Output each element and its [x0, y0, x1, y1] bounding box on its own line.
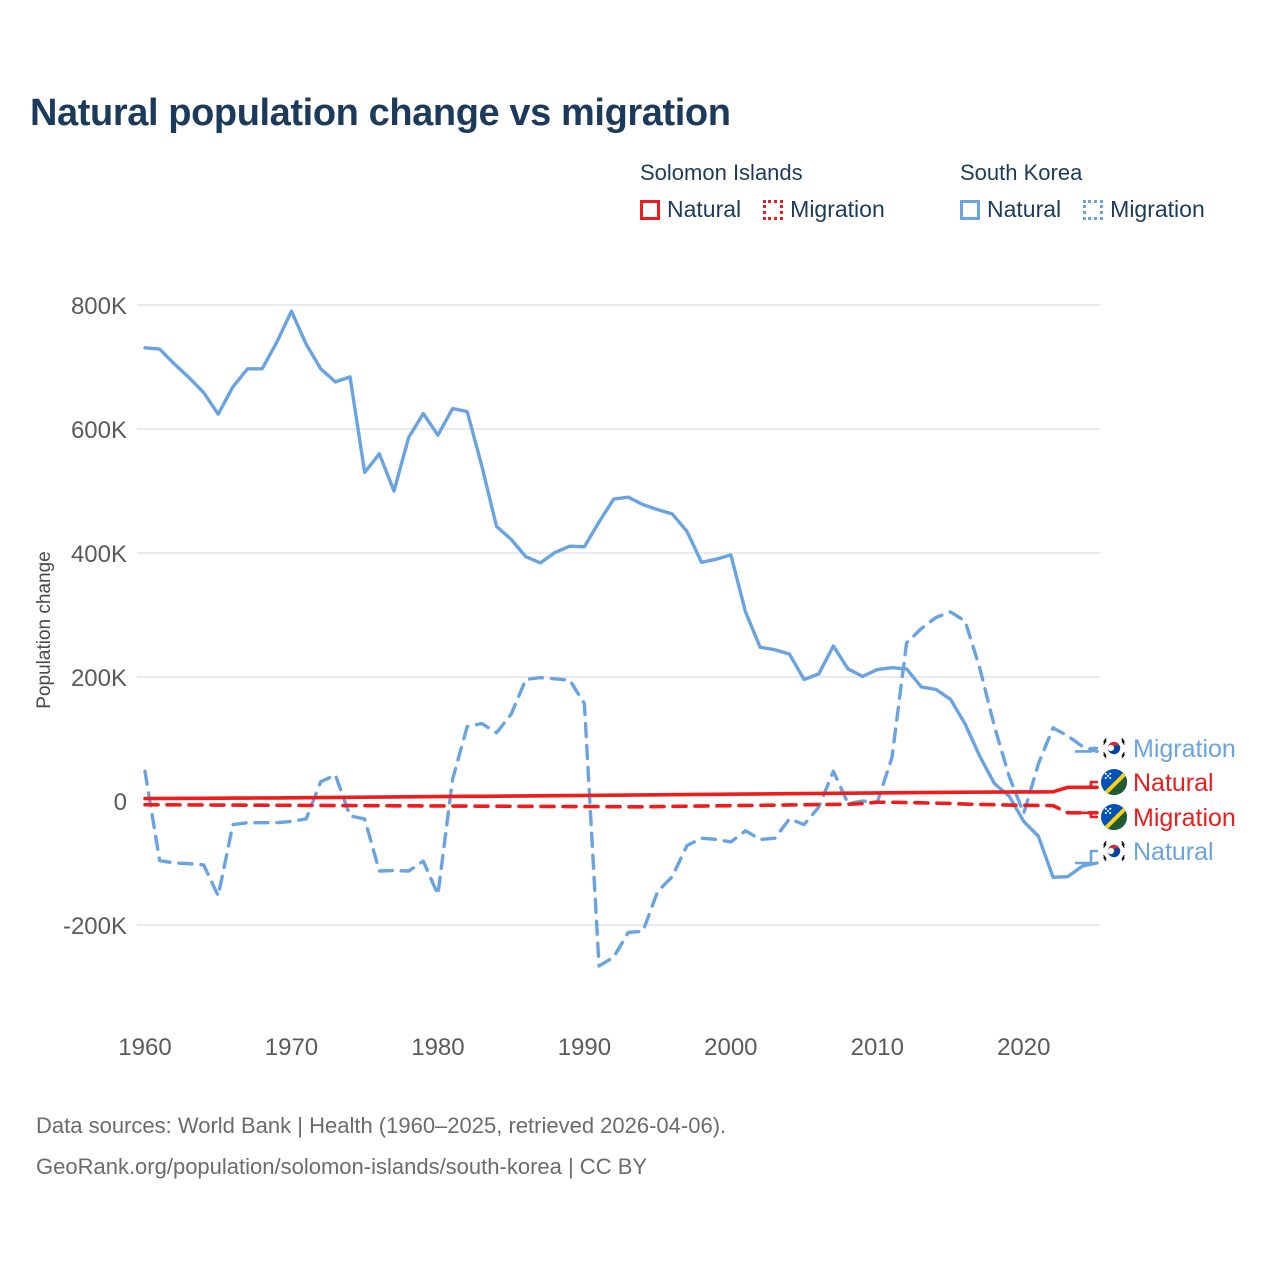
x-axis-tick-label: 2000: [704, 1034, 757, 1061]
end-label-text: Natural: [1133, 838, 1214, 866]
series-line: [145, 311, 1097, 877]
y-axis-tick-label: 0: [114, 789, 127, 816]
legend-item-label: Natural: [987, 196, 1061, 223]
series-line: [145, 612, 1097, 966]
y-axis-tick-label: 600K: [71, 417, 127, 444]
end-label-leader-line: [1075, 782, 1098, 787]
x-axis-tick-labels: 1960197019801990200020102020: [118, 1034, 1050, 1061]
south-korea-flag-icon: [1101, 838, 1127, 864]
chart-legend: Solomon Islands Natural Migration South …: [640, 160, 1260, 250]
chart-footer: Data sources: World Bank | Health (1960–…: [36, 1105, 726, 1187]
footer-data-sources: Data sources: World Bank | Health (1960–…: [36, 1105, 726, 1146]
y-axis-tick-label: 800K: [71, 293, 127, 320]
legend-swatch-solid-icon: [640, 200, 660, 220]
y-axis-title: Population change: [34, 551, 55, 708]
chart-page: Natural population change vs migration S…: [0, 0, 1280, 1280]
x-axis-tick-label: 2020: [997, 1034, 1050, 1061]
legend-swatch-solid-icon: [960, 200, 980, 220]
x-axis-tick-label: 1990: [558, 1034, 611, 1061]
series-line: [145, 802, 1097, 813]
footer-attribution: GeoRank.org/population/solomon-islands/s…: [36, 1146, 726, 1187]
legend-item-solomon-natural[interactable]: Natural: [640, 196, 741, 223]
legend-group-solomon-islands: Solomon Islands Natural Migration: [640, 160, 885, 223]
end-label-text: Natural: [1133, 769, 1214, 797]
y-axis-tick-labels: -200K0200K400K600K800K: [63, 293, 127, 940]
legend-item-label: Natural: [667, 196, 741, 223]
y-axis-tick-label: 200K: [71, 665, 127, 692]
chart-series: [145, 311, 1097, 966]
y-axis-tick-label: -200K: [63, 913, 127, 940]
legend-item-label: Migration: [790, 196, 885, 223]
y-axis-tick-label: 400K: [71, 541, 127, 568]
x-axis-tick-label: 1960: [118, 1034, 171, 1061]
legend-item-korea-natural[interactable]: Natural: [960, 196, 1061, 223]
end-label-leader-line: [1075, 748, 1098, 751]
legend-group-title: Solomon Islands: [640, 160, 885, 186]
legend-item-solomon-migration[interactable]: Migration: [763, 196, 885, 223]
legend-group-south-korea: South Korea Natural Migration: [960, 160, 1205, 223]
series-line: [145, 787, 1097, 798]
chart-gridlines: [137, 305, 1100, 925]
x-axis-tick-label: 1980: [411, 1034, 464, 1061]
solomon-islands-flag-icon: [1101, 804, 1127, 830]
legend-item-label: Migration: [1110, 196, 1205, 223]
x-axis-tick-label: 2010: [851, 1034, 904, 1061]
end-label-text: Migration: [1133, 735, 1236, 763]
end-label-leader-line: [1075, 813, 1098, 817]
legend-swatch-dotted-icon: [1083, 200, 1103, 220]
south-korea-flag-icon: [1101, 735, 1127, 761]
series-end-labels: MigrationNaturalMigrationNatural: [1075, 735, 1236, 866]
end-label-leader-line: [1075, 851, 1098, 863]
x-axis-tick-label: 1970: [265, 1034, 318, 1061]
legend-item-korea-migration[interactable]: Migration: [1083, 196, 1205, 223]
solomon-islands-flag-icon: [1101, 769, 1127, 795]
end-label-text: Migration: [1133, 804, 1236, 832]
legend-group-title: South Korea: [960, 160, 1205, 186]
page-title: Natural population change vs migration: [30, 92, 731, 135]
legend-swatch-dotted-icon: [763, 200, 783, 220]
